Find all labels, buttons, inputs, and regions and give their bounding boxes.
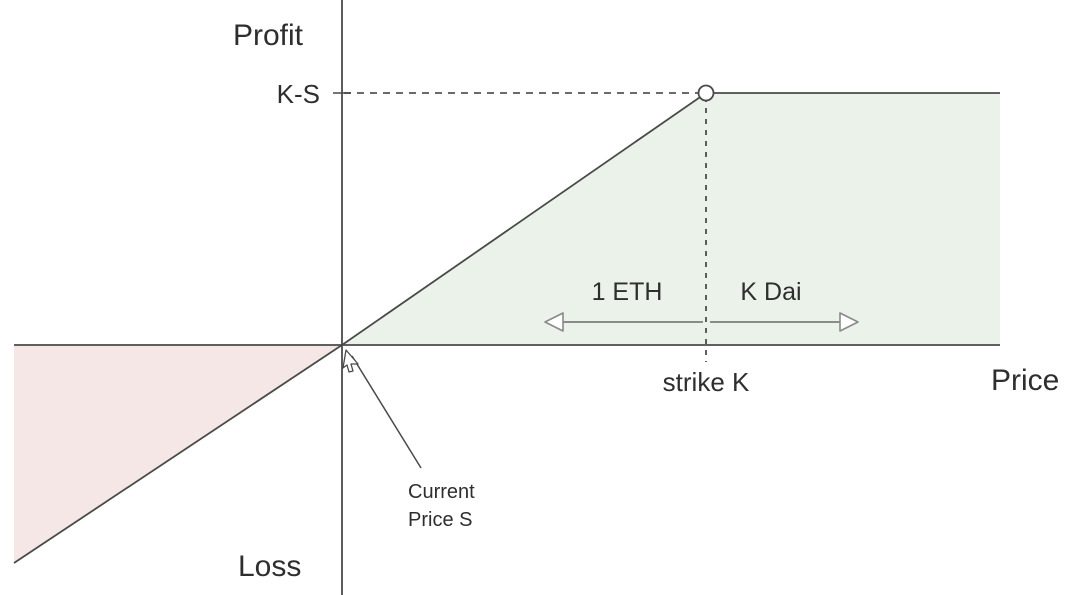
x-axis-label-price: Price xyxy=(991,364,1059,397)
span-label-k-dai: K Dai xyxy=(740,278,801,306)
y-tick-label-k-minus-s: K-S xyxy=(277,79,320,109)
profit-region xyxy=(342,93,1000,345)
arrow-cursor-icon xyxy=(343,350,358,372)
payoff-diagram-canvas: Profit Loss Price K-S strike K 1 ETH K D… xyxy=(0,0,1080,595)
y-axis-label-profit: Profit xyxy=(233,19,304,52)
y-axis-label-loss: Loss xyxy=(238,550,301,583)
x-tick-label-strike-k: strike K xyxy=(663,367,750,397)
current-price-label-line2: Price S xyxy=(408,509,472,531)
span-label-one-eth: 1 ETH xyxy=(592,278,663,306)
payoff-diagram-svg: Profit Loss Price K-S strike K 1 ETH K D… xyxy=(0,0,1080,595)
current-price-leader-line xyxy=(352,356,421,468)
kink-marker-icon xyxy=(699,86,714,101)
current-price-label-line1: Current xyxy=(408,481,475,503)
